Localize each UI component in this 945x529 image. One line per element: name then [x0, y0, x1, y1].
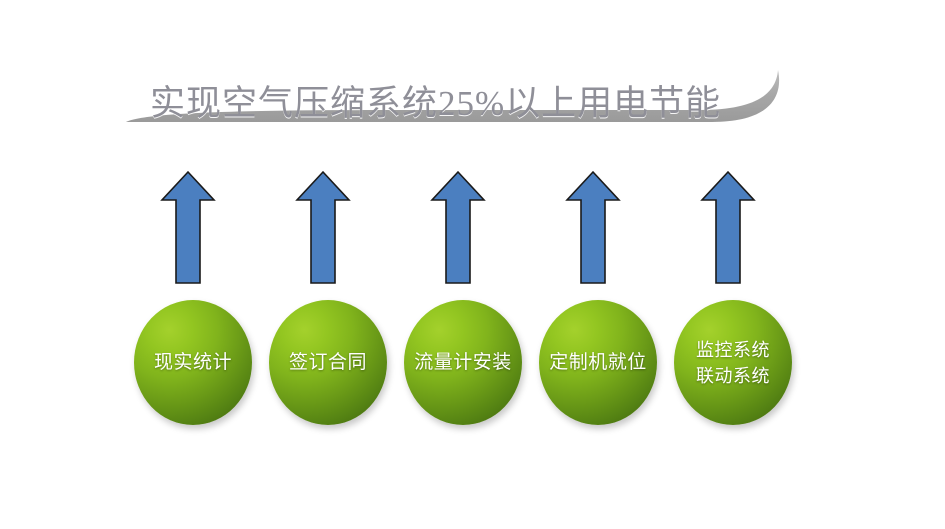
slide-canvas: 实现空气压缩系统25%以上用电节能 现实统计 签订合同 流量计安装 定制机就位 …	[0, 0, 945, 529]
process-node-label: 定制机就位	[545, 350, 651, 375]
process-node-label: 现实统计	[150, 350, 236, 375]
arrow-up-5	[700, 170, 756, 286]
process-node-label: 流量计安装	[410, 350, 516, 375]
process-node-2[interactable]: 签订合同	[269, 300, 387, 425]
arrow-up-3	[430, 170, 486, 286]
banner-bar	[126, 70, 779, 122]
process-node-label: 签订合同	[285, 350, 371, 375]
arrow-up-2	[295, 170, 351, 286]
process-node-4[interactable]: 定制机就位	[539, 300, 657, 425]
banner-shape	[0, 30, 945, 140]
title-banner: 实现空气压缩系统25%以上用电节能	[0, 30, 945, 140]
arrow-up-4	[565, 170, 621, 286]
page-title: 实现空气压缩系统25%以上用电节能	[150, 76, 750, 132]
arrow-up-1	[160, 170, 216, 286]
process-node-1[interactable]: 现实统计	[134, 300, 252, 425]
process-node-label: 监控系统 联动系统	[692, 337, 774, 389]
process-node-5[interactable]: 监控系统 联动系统	[674, 300, 792, 425]
process-node-3[interactable]: 流量计安装	[404, 300, 522, 425]
